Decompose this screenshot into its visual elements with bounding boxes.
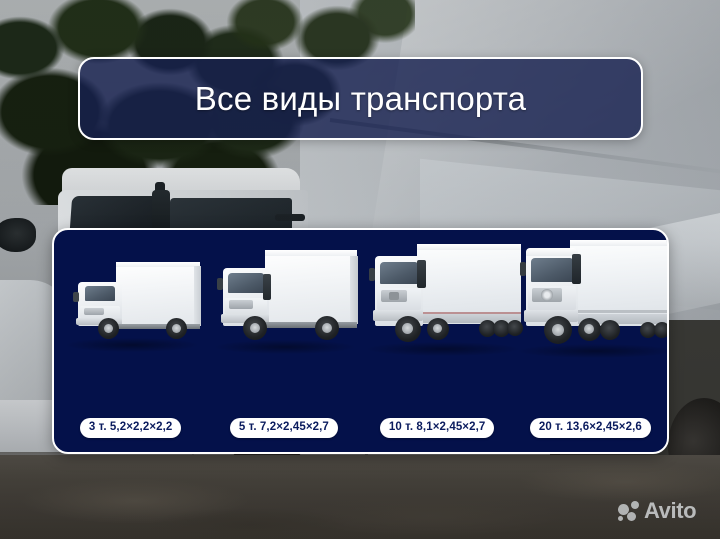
truck4-trailer-rail <box>574 310 669 313</box>
truck2-mirror-left <box>217 278 223 290</box>
medium-box-truck-illustration <box>207 230 360 418</box>
avito-watermark: Avito <box>618 500 696 522</box>
truck4-trailer-roof <box>570 240 669 246</box>
truck2-grille <box>229 300 253 309</box>
long-haul-semi-truck-illustration <box>514 230 667 418</box>
truck4-wheel-drive-2 <box>600 320 620 340</box>
vehicle-card-3[interactable]: 10 т. 8,1×2,45×2,7 <box>361 230 514 452</box>
truck1-rim-rear <box>172 324 181 333</box>
truck1-box-body <box>116 262 200 328</box>
truck1-rim-front <box>104 324 113 333</box>
truck1-box-roof <box>116 262 200 267</box>
truck3-windshield <box>380 262 418 284</box>
vehicle-card-1[interactable]: 3 т. 5,2×2,2×2,2 <box>54 230 207 452</box>
truck3-rim-steer <box>402 323 413 334</box>
truck3-shadow <box>367 342 519 356</box>
truck4-shadow <box>518 344 669 358</box>
truck3-trailer-stripe <box>421 312 521 314</box>
truck4-wheel-bogie-3 <box>667 322 669 337</box>
truck1-grille <box>84 308 104 315</box>
truck3-rim-drive <box>433 324 442 333</box>
vehicle-label-4: 20 т. 13,6×2,45×2,6 <box>530 418 651 439</box>
vehicle-card-4[interactable]: 20 т. 13,6×2,45×2,6 <box>514 230 667 452</box>
truck2-mirror <box>263 274 271 300</box>
truck4-star-emblem-icon <box>541 289 553 301</box>
truck4-cab-roof-fairing <box>526 248 578 256</box>
vehicle-card-2[interactable]: 5 т. 7,2×2,45×2,7 <box>207 230 360 452</box>
vehicle-list: 3 т. 5,2×2,2×2,2 <box>54 230 667 452</box>
truck4-rim-drive-1 <box>584 324 594 334</box>
truck4-rim-steer <box>552 324 564 336</box>
truck2-box-roof <box>265 250 357 256</box>
page-title: Все виды транспорта <box>195 80 526 118</box>
vehicle-types-panel: 3 т. 5,2×2,2×2,2 <box>52 228 669 454</box>
small-box-truck-illustration <box>54 230 207 418</box>
truck3-mirror <box>417 260 426 288</box>
avito-dots-icon <box>618 501 640 521</box>
avito-brand-text: Avito <box>644 500 696 522</box>
vehicle-label-1: 3 т. 5,2×2,2×2,2 <box>80 418 182 439</box>
truck1-box-rear <box>194 266 201 326</box>
truck1-mirror <box>73 292 79 302</box>
truck4-windshield <box>531 258 573 282</box>
truck4-mirror <box>572 254 581 284</box>
truck3-trailer-roof <box>417 244 521 250</box>
poster-canvas: Все виды транспорта <box>0 0 720 539</box>
vehicle-label-3: 10 т. 8,1×2,45×2,7 <box>380 418 495 439</box>
truck2-windshield <box>228 273 264 293</box>
truck2-box-body <box>265 250 357 326</box>
title-banner: Все виды транспорта <box>78 57 643 140</box>
truck1-windshield <box>85 286 115 301</box>
truck3-emblem <box>389 292 399 300</box>
truck1-shadow <box>66 338 198 352</box>
truck3-mirror-left <box>369 268 375 281</box>
truck2-shadow <box>215 340 355 354</box>
truck4-mirror-left <box>520 262 526 276</box>
semi-trailer-truck-illustration <box>361 230 514 418</box>
vehicle-label-2: 5 т. 7,2×2,45×2,7 <box>230 418 338 439</box>
truck2-box-rear <box>350 256 358 324</box>
